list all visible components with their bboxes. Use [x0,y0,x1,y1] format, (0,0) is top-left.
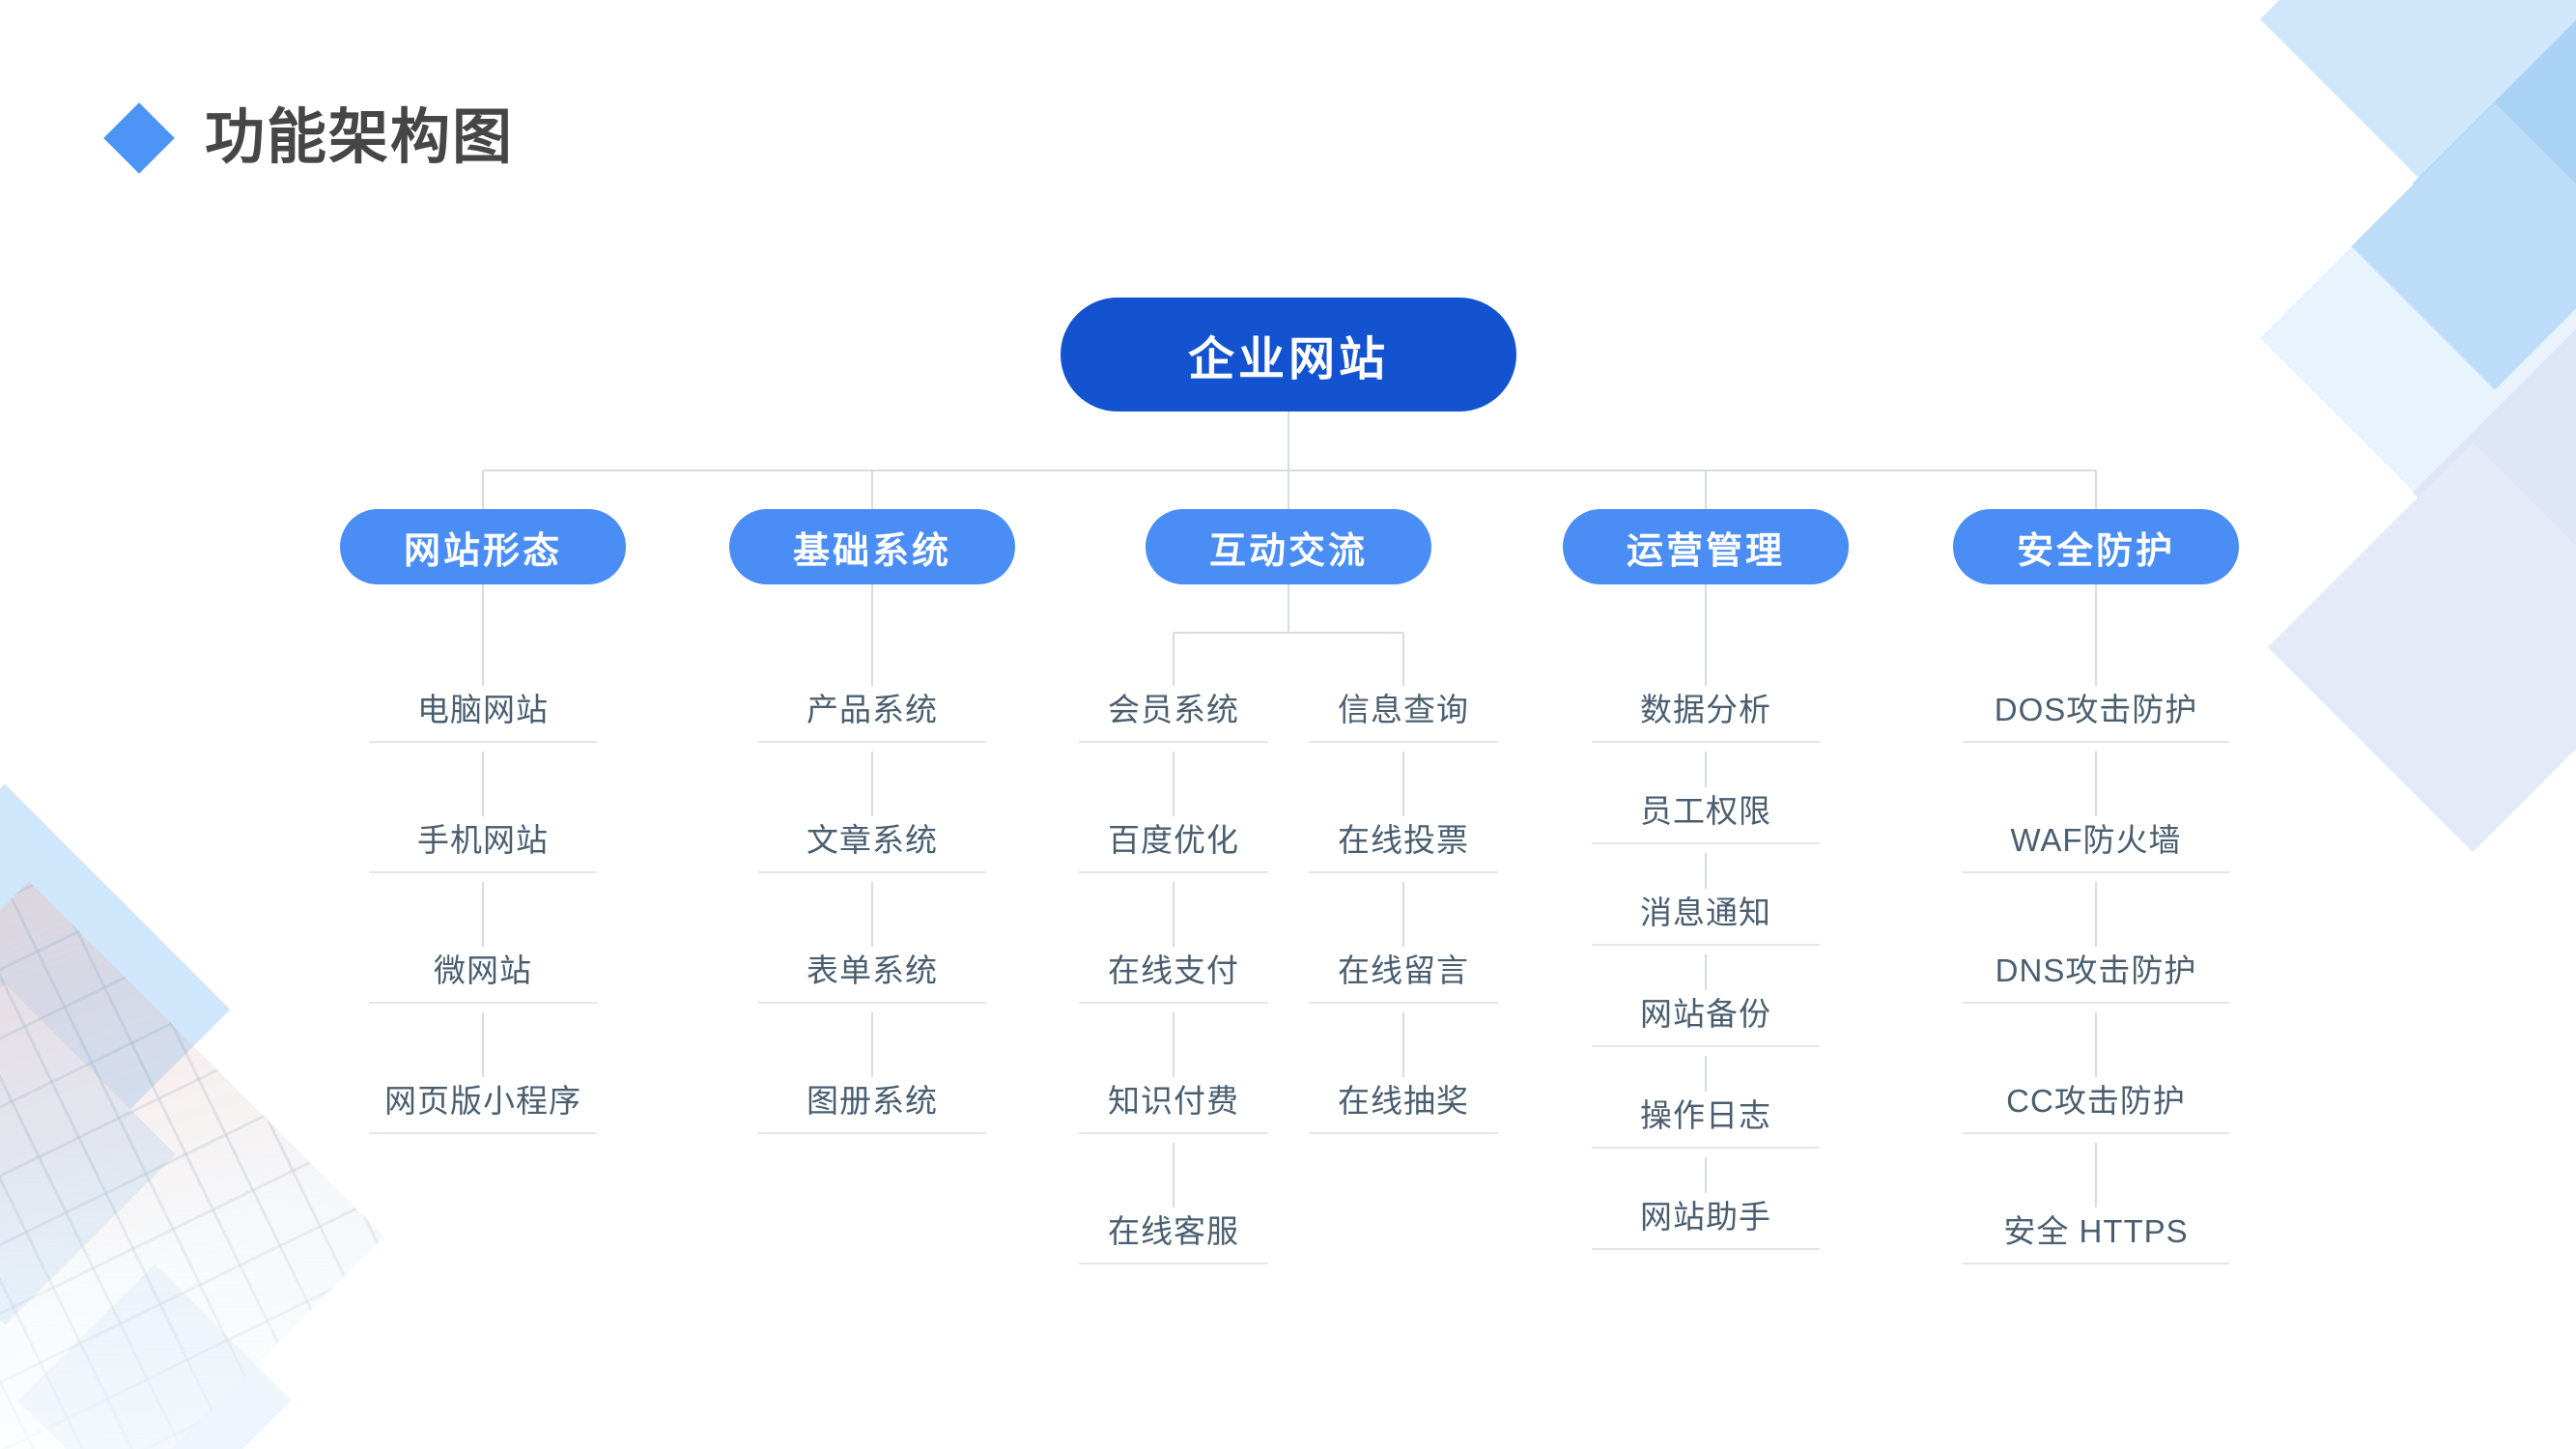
leaf-node[interactable]: 员工权限 [1592,795,1820,844]
category-node-1[interactable]: 网站形态 [340,509,626,584]
leaf-node[interactable]: 知识付费 [1079,1085,1268,1134]
leaf-node[interactable]: 安全 HTTPS [1963,1215,2229,1264]
category-node-5[interactable]: 安全防护 [1953,509,2239,584]
leaf-node[interactable]: 在线投票 [1309,824,1498,873]
leaf-node[interactable]: 图册系统 [758,1085,986,1134]
leaf-node[interactable]: 消息通知 [1592,896,1820,946]
architecture-diagram: 企业网站网站形态电脑网站手机网站微网站网页版小程序基础系统产品系统文章系统表单系… [0,0,2576,1449]
leaf-node[interactable]: 在线抽奖 [1309,1085,1498,1134]
category-node-3[interactable]: 互动交流 [1146,509,1431,584]
leaf-node[interactable]: 百度优化 [1079,824,1268,873]
leaf-node[interactable]: 网站备份 [1592,998,1820,1047]
leaf-node[interactable]: 网页版小程序 [369,1085,597,1134]
leaf-node[interactable]: DNS攻击防护 [1963,954,2229,1004]
leaf-node[interactable]: 手机网站 [369,824,597,873]
leaf-node[interactable]: CC攻击防护 [1963,1085,2229,1134]
root-node[interactable]: 企业网站 [1061,298,1516,412]
leaf-node[interactable]: WAF防火墙 [1963,824,2229,873]
leaf-node[interactable]: 微网站 [369,954,597,1004]
leaf-node[interactable]: 操作日志 [1592,1099,1820,1149]
leaf-node[interactable]: 电脑网站 [369,694,597,743]
slide-canvas: 功能架构图 企业网站网站形态电脑网站手机网站微网站网页版小程序基础系统产品系统文… [0,0,2576,1449]
leaf-node[interactable]: 信息查询 [1309,694,1498,743]
category-node-4[interactable]: 运营管理 [1563,509,1849,584]
leaf-node[interactable]: 表单系统 [758,954,986,1004]
leaf-node[interactable]: 产品系统 [758,694,986,743]
leaf-node[interactable]: 文章系统 [758,824,986,873]
leaf-node[interactable]: 在线客服 [1079,1215,1268,1264]
leaf-node[interactable]: DOS攻击防护 [1963,694,2229,743]
leaf-node[interactable]: 在线支付 [1079,954,1268,1004]
leaf-node[interactable]: 在线留言 [1309,954,1498,1004]
leaf-node[interactable]: 会员系统 [1079,694,1268,743]
leaf-node[interactable]: 网站助手 [1592,1201,1820,1250]
leaf-node[interactable]: 数据分析 [1592,694,1820,743]
category-node-2[interactable]: 基础系统 [729,509,1015,584]
